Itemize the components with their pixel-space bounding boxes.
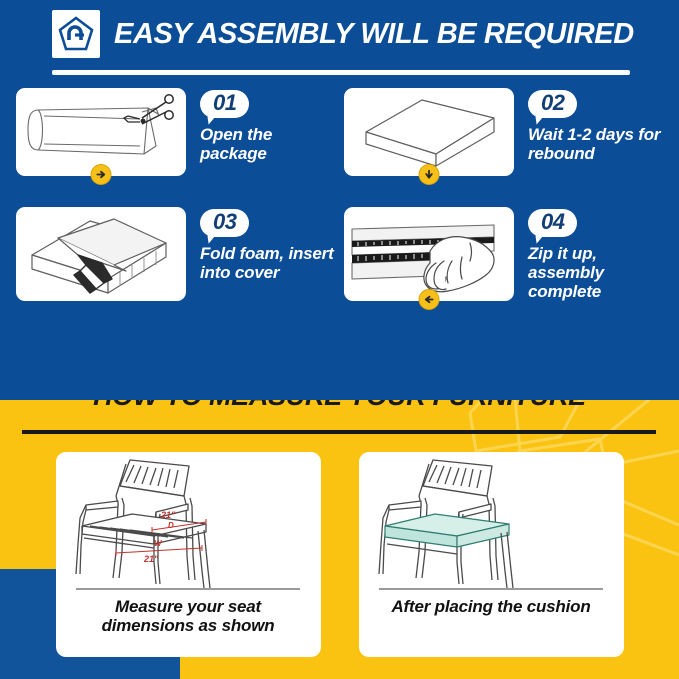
steps-grid: 01 Open the package [0,88,679,301]
step-02: 02 Wait 1-2 days for rebound [344,88,666,176]
step-03-caption: Fold foam, insert into cover [200,244,338,282]
steps-row-1: 01 Open the package [0,88,679,176]
assembly-section: EASY ASSEMBLY WILL BE REQUIRED [0,0,679,400]
step-02-caption: Wait 1-2 days for rebound [528,125,666,163]
step-01-number: 01 [200,90,249,118]
step-01: 01 Open the package [16,88,338,176]
svg-text:W: W [154,539,163,548]
step-02-number: 02 [528,90,577,118]
step-03-number: 03 [200,209,249,237]
arrow-left-icon [419,289,440,310]
step-03: 03 Fold foam, insert into cover [16,207,338,301]
step-01-illustration [16,88,186,176]
card-divider [76,588,300,590]
arrow-down-icon [419,164,440,185]
step-02-illustration [344,88,514,176]
measure-card-dimensions: 21" D W 21" Measure your seat dimensions… [56,452,321,657]
measure-card-caption: Measure your seat dimensions as shown [74,597,302,635]
step-04-text: 04 Zip it up, assembly complete [528,207,666,301]
measure-title-divider [22,430,656,434]
step-04-caption: Zip it up, assembly complete [528,244,666,301]
pentagon-house-icon [52,10,100,58]
step-01-text: 01 Open the package [200,88,338,163]
steps-row-2: 03 Fold foam, insert into cover [0,207,679,301]
step-03-text: 03 Fold foam, insert into cover [200,207,338,282]
svg-text:21": 21" [160,510,176,520]
assembly-instructions-infographic: HOW TO MEASURE YOUR FURNITURE [0,0,679,679]
svg-text:21": 21" [143,554,159,564]
header: EASY ASSEMBLY WILL BE REQUIRED [0,6,679,62]
chair-cushion-illustration [359,452,624,590]
measure-card-caption: After placing the cushion [377,597,605,616]
step-04-number: 04 [528,209,577,237]
step-03-illustration [16,207,186,301]
step-04: 04 Zip it up, assembly complete [344,207,666,301]
step-04-illustration [344,207,514,301]
measure-cards-row: 21" D W 21" Measure your seat dimensions… [0,452,679,657]
measure-card-cushion: After placing the cushion [359,452,624,657]
chair-dimension-illustration: 21" D W 21" [56,452,321,590]
step-02-text: 02 Wait 1-2 days for rebound [528,88,666,163]
card-divider [379,588,603,590]
svg-text:D: D [168,521,174,530]
step-01-caption: Open the package [200,125,338,163]
header-divider [52,70,630,75]
arrow-right-icon [91,164,112,185]
page-title: EASY ASSEMBLY WILL BE REQUIRED [114,18,634,51]
